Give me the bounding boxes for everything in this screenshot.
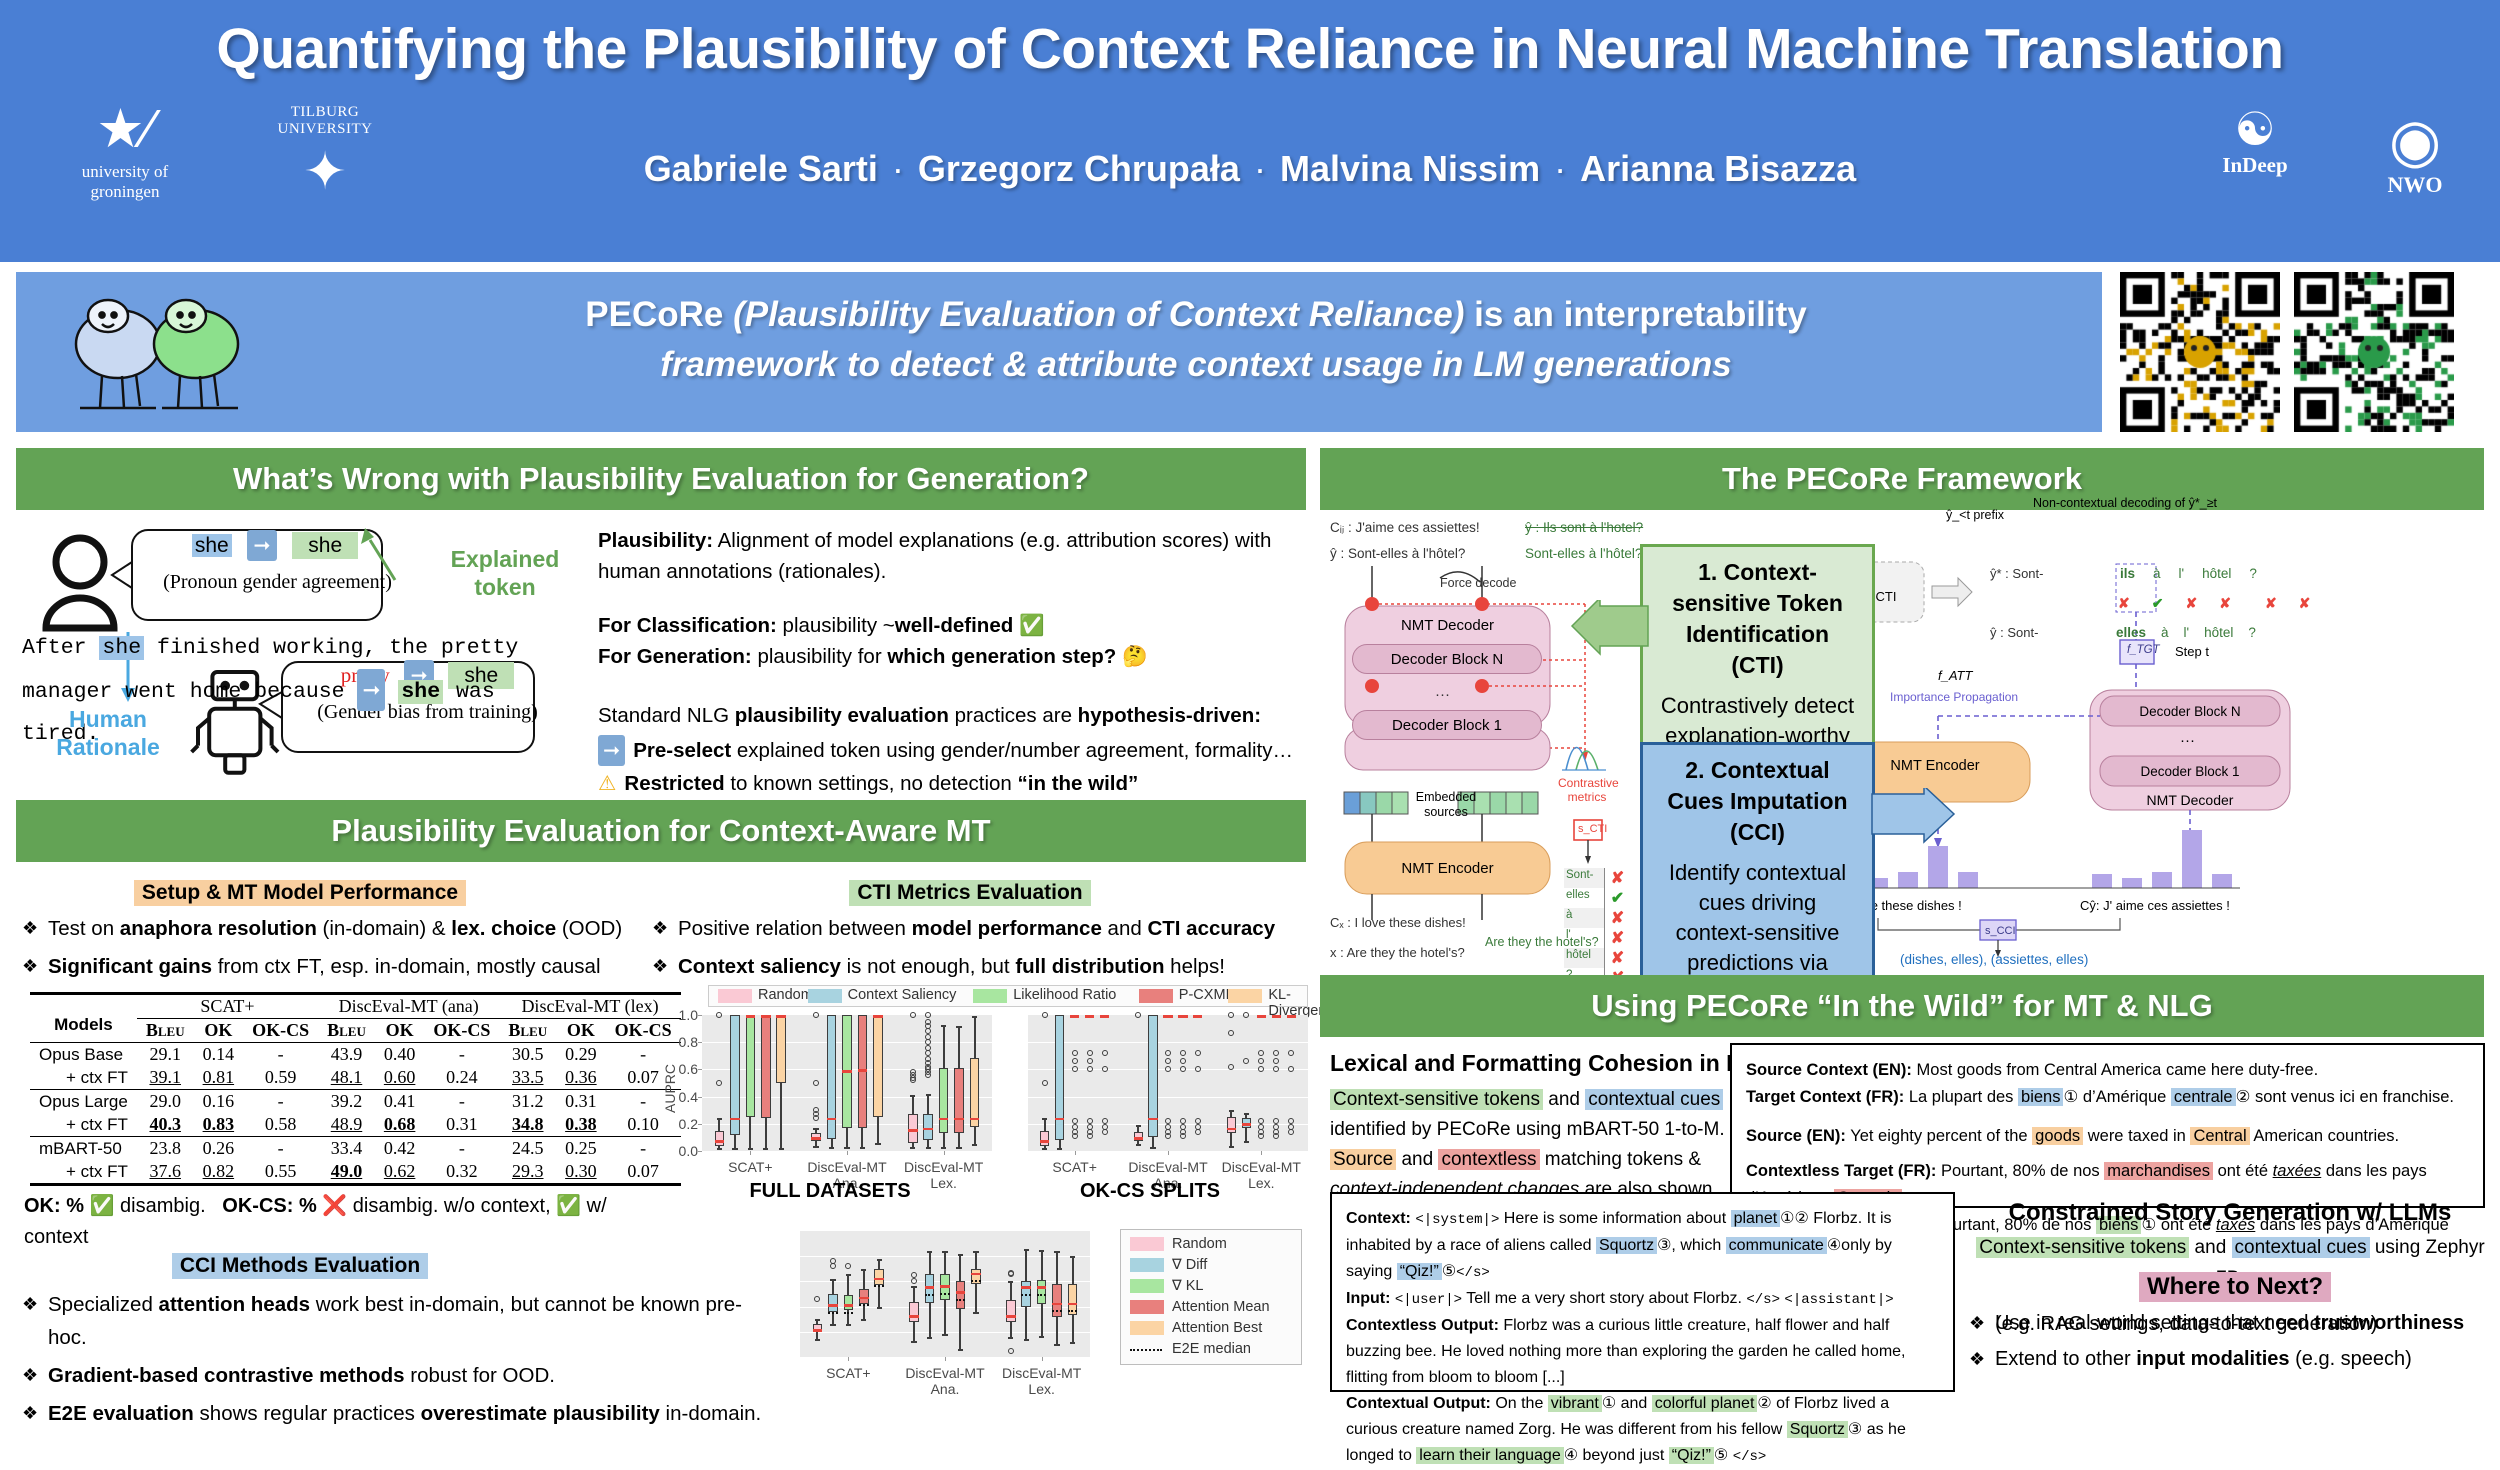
- cross-mark-icon: ✘: [2219, 595, 2231, 612]
- median-line: [715, 1140, 725, 1143]
- box: [939, 1068, 949, 1133]
- table-row: + ctx FT 37.60.820.55 49.00.620.32 29.30…: [30, 1160, 681, 1185]
- x-line: x : Are they the hotel's?: [1330, 945, 1465, 960]
- spacer: [1746, 1111, 2469, 1123]
- median-line: [1163, 1015, 1172, 1018]
- section-header-plausibility-mt: Plausibility Evaluation for Context-Awar…: [16, 800, 1306, 862]
- cross-mark-icon: ✘: [1604, 908, 1630, 928]
- s-cti-label: s_CTI: [1578, 823, 1607, 835]
- cci-subheader: CCI Methods Evaluation: [172, 1253, 428, 1279]
- section-header-in-the-wild: Using PECoRe “In the Wild” for MT & NLG: [1320, 975, 2484, 1037]
- nwo-mark-icon: ◉: [2350, 110, 2480, 172]
- plausibility-definition: Plausibility: Alignment of model explana…: [598, 525, 1288, 587]
- box: [746, 1015, 756, 1117]
- median-line: [1100, 1015, 1109, 1018]
- setup-subheader: Setup & MT Model Performance: [134, 880, 466, 906]
- explained-token-label: Explained token: [415, 545, 595, 601]
- median-line: [874, 1278, 884, 1281]
- y-tick-label: 0.8: [668, 1034, 698, 1050]
- noncontextual-label: Non-contextual decoding of ŷ*_≥t: [2030, 496, 2220, 511]
- whisker-cap: [973, 1312, 978, 1314]
- crest-icon: ★⁄: [55, 100, 195, 158]
- section-header-framework: The PECoRe Framework: [1320, 448, 2484, 510]
- step1-arrow-icon: [1570, 600, 1650, 660]
- x-tick: [1261, 1151, 1262, 1155]
- y-tick: [698, 1097, 702, 1098]
- source-line: Source (EN): Yet eighty percent of the g…: [1746, 1123, 2469, 1150]
- median-line: [1134, 1137, 1143, 1140]
- y-tick: [698, 1042, 702, 1043]
- median-line: [828, 1304, 838, 1307]
- arrow-right-icon: ➞: [357, 669, 385, 711]
- banner-text: PECoRe (Plausibility Evaluation of Conte…: [316, 290, 2076, 390]
- banner-line1-tail: is an interpretability: [1474, 295, 1807, 334]
- check-mark-icon: ✔: [1604, 888, 1630, 908]
- generation-line: For Generation: plausibility for which g…: [598, 641, 1288, 672]
- whisker-cap: [877, 1259, 882, 1261]
- box: [844, 1295, 854, 1310]
- story-contextual-output: Contextual Output: On the vibrant① and c…: [1346, 1391, 1939, 1470]
- outlier-point: [1087, 1058, 1093, 1064]
- box: [827, 1015, 837, 1139]
- legend-swatch: [1130, 1300, 1164, 1314]
- median-line: [1040, 1140, 1049, 1143]
- token-she-human: she: [99, 636, 144, 660]
- results-table: Models SCAT+ DiscEval-MT (ana) DiscEval-…: [30, 992, 681, 1186]
- cci-subheader-wrap: CCI Methods Evaluation: [130, 1253, 470, 1279]
- whisker-cap: [732, 1148, 737, 1150]
- y-tick-label: 0.2: [668, 1116, 698, 1132]
- legend-swatch: [1130, 1237, 1164, 1251]
- step-t-label: Step t: [2175, 644, 2209, 659]
- outlier-point: [1008, 1348, 1014, 1354]
- median-line: [776, 1015, 786, 1018]
- chart-caption-okcs-splits: OK-CS SPLITS: [1020, 1180, 1280, 1203]
- whisker-cap: [1136, 1144, 1141, 1146]
- decoder-block-1-right: Decoder Block 1: [2100, 756, 2280, 786]
- group-disceval-ana: DiscEval-MT (ana): [318, 994, 499, 1019]
- median-line: [842, 1070, 852, 1073]
- e2e-median-marker: [925, 1294, 935, 1296]
- x-tick-label: SCAT+: [1028, 1159, 1121, 1175]
- author-3: Malvina Nissim: [1280, 148, 1540, 189]
- example-part-1: After: [22, 636, 99, 660]
- whisker-cap: [942, 1334, 947, 1336]
- outlier-point: [1087, 1050, 1093, 1056]
- thinking-face-icon: 🤔: [1122, 645, 1148, 668]
- embedded-sources-label: Embedded sources: [1414, 790, 1478, 820]
- whisker-cap: [1136, 1125, 1141, 1127]
- nmt-encoder-label: NMT Encoder: [1345, 850, 1550, 886]
- qr-code-group: [2120, 272, 2484, 432]
- qr-code-paper[interactable]: [2120, 272, 2280, 432]
- whisker-cap: [1024, 1249, 1029, 1251]
- cross-mark-icon: ✘: [1604, 928, 1630, 948]
- table-row: Opus Large 29.00.16- 39.20.41- 31.20.31-: [30, 1090, 681, 1114]
- median-line: [1287, 1015, 1296, 1018]
- source-context-line: Source Context (EN): Most goods from Cen…: [1746, 1057, 2469, 1084]
- author-2: Grzegorz Chrupała: [918, 148, 1240, 189]
- median-line: [859, 1297, 869, 1300]
- marks-row: ✘ ✔ ✘ ✘ ✘ ✘: [2118, 595, 2310, 612]
- y-tick-label: 0.0: [668, 1143, 698, 1159]
- list-item: Gradient-based contrastive methods robus…: [18, 1359, 778, 1392]
- bottom-cy-line: Cŷ: J' aime ces assiettes !: [2080, 898, 2230, 913]
- standard-nlg-line: Standard NLG plausibility evaluation pra…: [598, 700, 1298, 731]
- step-2-title: 2. Contextual Cues Imputation (CCI): [1657, 755, 1858, 848]
- e2e-median-marker: [1052, 1310, 1062, 1312]
- median-line: [1085, 1015, 1094, 1018]
- list-item-continuation: (e.g. RAG settings, data-to-text generat…: [1965, 1309, 2495, 1339]
- star-token-row: ilsàl'hôtel?: [2120, 566, 2257, 581]
- subcol-okcs: OK-CS: [424, 1019, 499, 1043]
- cti-subheader-wrap: CTI Metrics Evaluation: [790, 880, 1150, 906]
- median-line: [730, 1118, 740, 1121]
- check-mark-icon: ✔: [2152, 595, 2164, 612]
- whisker-cap: [1244, 1141, 1249, 1143]
- e2e-median-marker: [1021, 1294, 1031, 1296]
- cross-mark-icon: ✘: [2185, 595, 2197, 612]
- whisker-cap: [748, 1148, 753, 1150]
- cross-mark-icon: ✘: [1604, 948, 1630, 968]
- outlier-point: [1102, 1050, 1108, 1056]
- whisker-cap: [973, 1251, 978, 1253]
- outlier-point: [1042, 1012, 1048, 1018]
- mt-cohesion-header: Lexical and Formatting Cohesion in MT: [1330, 1048, 1770, 1079]
- legend-label: Likelihood Ratio: [1013, 987, 1116, 1003]
- outlier-point: [910, 1012, 916, 1018]
- tilburg-emblem-icon: ✦: [245, 144, 405, 200]
- legend-swatch: [1130, 1258, 1164, 1272]
- median-line: [909, 1315, 919, 1318]
- subcol-bleu: Bleu: [137, 1019, 194, 1043]
- list-item: Specialized attention heads work best in…: [18, 1288, 778, 1354]
- token-she-model: she: [398, 680, 443, 704]
- y-hat-label: ŷ : Sont-: [1990, 625, 2038, 640]
- decoder-block-n: Decoder Block N: [1352, 644, 1542, 674]
- subcol-ok: OK: [375, 1019, 425, 1043]
- box: [909, 1302, 919, 1322]
- cross-mark-icon: ✘: [1604, 868, 1630, 888]
- group-scat: SCAT+: [137, 994, 318, 1019]
- median-line: [956, 1291, 966, 1294]
- subcol-ok: OK: [194, 1019, 244, 1043]
- whisker-cap: [1054, 1251, 1059, 1253]
- box: [1040, 1131, 1049, 1146]
- whisker-cap: [829, 1147, 834, 1149]
- mt-cohesion-desc: Context-sensitive tokens and contextual …: [1330, 1085, 1760, 1205]
- boxplot-panel: SCAT+DiscEval-MT Ana.DiscEval-MT Lex.: [800, 1231, 1090, 1357]
- warning-icon: ⚠: [598, 772, 616, 795]
- median-line: [954, 1118, 964, 1121]
- whisker-cap: [861, 1319, 866, 1321]
- whisker-cap: [1070, 1256, 1075, 1258]
- check-mark-icon: ✅: [90, 1195, 115, 1217]
- legend-label: Context Saliency: [848, 987, 957, 1003]
- table-row: mBART-50 23.80.26- 33.40.42- 24.50.25-: [30, 1137, 681, 1161]
- outlier-point: [1180, 1050, 1186, 1056]
- author-1: Gabriele Sarti: [644, 148, 878, 189]
- group-disceval-lex: DiscEval-MT (lex): [499, 994, 680, 1019]
- legend-label: Attention Mean: [1172, 1299, 1270, 1315]
- median-line: [873, 1015, 883, 1018]
- e2e-median-marker: [859, 1304, 869, 1306]
- logo-label: NWO: [2350, 172, 2480, 198]
- framework-diagram: Cᵢⱼ : J'aime ces assiettes! ŷ : Ils sont…: [1330, 520, 2490, 960]
- whisker-cap: [1042, 1118, 1047, 1120]
- f-tgt-label: f_TGT: [2127, 644, 2160, 656]
- whisker-cap: [958, 1254, 963, 1256]
- subcol-ok: OK: [556, 1019, 606, 1043]
- whisker-cap: [1024, 1339, 1029, 1341]
- whisker-cap: [1039, 1250, 1044, 1252]
- e2e-median-marker: [1037, 1294, 1047, 1296]
- mt-example-box: Source Context (EN): Most goods from Cen…: [1730, 1043, 2485, 1208]
- university-of-groningen-logo: ★⁄ university of groningen: [55, 100, 195, 202]
- box: [1006, 1300, 1016, 1321]
- x-tick: [750, 1151, 751, 1155]
- box: [828, 1294, 838, 1312]
- median-line: [1272, 1015, 1281, 1018]
- human-bubble-content: she ➞ she: [155, 530, 395, 561]
- cti-token-table: Sont-✘ elles✔ à✘ l'✘ hôtel✘ ?✘: [1564, 868, 1630, 988]
- where-next-header-wrap: Where to Next?: [2090, 1272, 2380, 1302]
- cti-subheader: CTI Metrics Evaluation: [849, 880, 1090, 906]
- table-footnote: OK: % ✅ disambig. OK-CS: % ❌ disambig. w…: [24, 1191, 664, 1253]
- median-line: [940, 1285, 950, 1288]
- tilburg-university-logo: TILBURG UNIVERSITY ✦: [245, 104, 405, 200]
- y-tick: [698, 1015, 702, 1016]
- whisker-cap: [927, 1337, 932, 1339]
- median-line: [1055, 1118, 1064, 1121]
- author-4: Arianna Bisazza: [1580, 148, 1856, 189]
- example-part-3: manager went home because: [22, 680, 345, 704]
- cci-bullet-list: Specialized attention heads work best in…: [18, 1288, 778, 1435]
- outlier-point: [1180, 1133, 1186, 1139]
- whisker-cap: [1070, 1342, 1075, 1344]
- legend-swatch: [808, 989, 842, 1003]
- outlier-point: [1102, 1066, 1108, 1072]
- person-icon: [46, 538, 114, 628]
- setup-subheader-wrap: Setup & MT Model Performance: [120, 880, 480, 906]
- whisker-cap: [1039, 1336, 1044, 1338]
- box: [761, 1015, 771, 1118]
- median-line: [1227, 1128, 1236, 1131]
- whisker-cap: [763, 1148, 768, 1150]
- y-tick: [698, 1124, 702, 1125]
- whisker-cap: [1042, 1148, 1047, 1150]
- median-line: [1021, 1286, 1031, 1289]
- subtitle-banner: PECoRe (Plausibility Evaluation of Conte…: [16, 272, 2102, 432]
- whisker-cap: [844, 1147, 849, 1149]
- decoder-dots: ···: [1435, 686, 1450, 703]
- nmt-decoder-right: NMT Decoder: [2100, 792, 2280, 808]
- gridline: [1028, 1042, 1308, 1043]
- author-separator: ·: [878, 148, 918, 189]
- page-title: Quantifying the Plausibility of Context …: [0, 16, 2500, 82]
- whisker-cap: [860, 1147, 865, 1149]
- decoder-block-n-right: Decoder Block N: [2100, 696, 2280, 726]
- story-example-box: Context: <|system|> Here is some informa…: [1330, 1192, 1955, 1392]
- median-line: [1242, 1123, 1251, 1126]
- y-tick: [698, 1151, 702, 1152]
- outlier-point: [1165, 1133, 1171, 1139]
- whisker-cap: [830, 1324, 835, 1326]
- pairs-label: (dishes, elles), (assiettes, elles): [1900, 952, 2088, 967]
- setup-bullet-list: Test on anaphora resolution (in-domain) …: [18, 912, 638, 988]
- cross-mark-icon: ❌: [322, 1195, 347, 1217]
- chart-caption-full-datasets: FULL DATASETS: [700, 1180, 960, 1203]
- human-rationale-label: Human Rationale: [28, 705, 188, 761]
- cross-mark-icon: ✘: [2299, 595, 2311, 612]
- box: [1037, 1280, 1047, 1304]
- e2e-median-marker: [1068, 1310, 1078, 1312]
- whisker-cap: [1244, 1113, 1249, 1115]
- outlier-point: [1008, 1271, 1014, 1277]
- story-input-line: Input: <|user|> Tell me a very short sto…: [1346, 1286, 1939, 1313]
- pecore-expansion: (Plausibility Evaluation of Context Reli…: [733, 295, 1464, 334]
- subcol-bleu: Bleu: [318, 1019, 375, 1043]
- x-tick: [1042, 1357, 1043, 1361]
- median-line: [1006, 1315, 1016, 1318]
- qr-code-demo[interactable]: [2294, 272, 2454, 432]
- list-item: Test on anaphora resolution (in-domain) …: [18, 912, 638, 945]
- median-line: [811, 1137, 821, 1140]
- story-context-line: Context: <|system|> Here is some informa…: [1346, 1206, 1939, 1286]
- whisker-cap: [875, 1143, 880, 1145]
- step2-arrow-icon: [1870, 788, 1956, 848]
- legend-label: ∇ KL: [1172, 1278, 1203, 1294]
- e2e-median-marker: [940, 1293, 950, 1295]
- table-row: à✘: [1564, 908, 1630, 928]
- logo-label: UNIVERSITY: [245, 121, 405, 138]
- box: [776, 1015, 786, 1083]
- median-line: [761, 1015, 771, 1018]
- x-tick: [848, 1357, 849, 1361]
- author-separator: ·: [1240, 148, 1280, 189]
- whisker-cap: [910, 1147, 915, 1149]
- story-contextless-output: Contextless Output: Florbz was a curious…: [1346, 1313, 1939, 1391]
- median-line: [908, 1129, 918, 1132]
- author-separator: ·: [1540, 148, 1580, 189]
- hat-token-row: ellesàl'hôtel?: [2116, 625, 2256, 640]
- median-line: [746, 1015, 756, 1018]
- check-mark-icon: ✅: [556, 1195, 581, 1217]
- banner-line2: framework to detect & attribute context …: [660, 345, 1732, 384]
- decoder-dots: ···: [2180, 732, 2195, 749]
- whisker-cap: [911, 1341, 916, 1343]
- e2e-median-marker: [956, 1299, 966, 1301]
- table-row: elles✔: [1564, 888, 1630, 908]
- median-line: [844, 1304, 854, 1307]
- outlier-point: [1072, 1133, 1078, 1139]
- f-att-label: f_ATT: [1938, 668, 1972, 683]
- boxplot-panel: SCAT+DiscEval-MT Ana.DiscEval-MT Lex.0.0…: [702, 1015, 992, 1151]
- outlier-point: [1042, 1080, 1048, 1086]
- step-1-title: 1. Context-sensitive Token Identificatio…: [1657, 557, 1858, 681]
- table-row: + ctx FT 39.10.810.59 48.10.600.24 33.50…: [30, 1066, 681, 1090]
- outlier-point: [1195, 1050, 1201, 1056]
- legend-swatch: [1130, 1349, 1162, 1351]
- y-axis-label: AUPRC: [662, 1064, 678, 1113]
- pecore-acronym: PECoRe: [585, 295, 723, 334]
- whisker-cap: [815, 1319, 820, 1321]
- target-context-line: Target Context (FR): La plupart des bien…: [1746, 1084, 2469, 1111]
- whisker-cap: [972, 1144, 977, 1146]
- logo-label: InDeep: [2190, 153, 2320, 178]
- cross-mark-icon: ✘: [2118, 595, 2130, 612]
- whisker-cap: [717, 1148, 722, 1150]
- check-mark-icon: ✅: [1019, 614, 1045, 637]
- network-icon: ☯: [2190, 105, 2320, 153]
- outlier-point: [1072, 1058, 1078, 1064]
- example-part-2: finished working, the pretty: [144, 636, 518, 660]
- median-line: [971, 1273, 981, 1276]
- whisker-cap: [1057, 1148, 1062, 1150]
- cci-boxplot-chart: SCAT+DiscEval-MT Ana.DiscEval-MT Lex.Ran…: [790, 1225, 1310, 1395]
- median-line: [1070, 1015, 1079, 1018]
- legend-label: E2E median: [1172, 1341, 1251, 1357]
- list-item: Context saliency is not enough, but full…: [648, 950, 1308, 983]
- median-line: [925, 1286, 935, 1289]
- whisker-cap: [926, 1147, 931, 1149]
- whisker-cap: [779, 1148, 784, 1150]
- outlier-point: [1195, 1129, 1201, 1135]
- cross-mark-icon: ✘: [2265, 595, 2277, 612]
- box: [970, 1058, 980, 1127]
- y-tick-label: 1.0: [668, 1007, 698, 1023]
- whisker-cap: [846, 1324, 851, 1326]
- x-tick: [945, 1357, 946, 1361]
- median-line: [1037, 1286, 1047, 1289]
- median-line: [939, 1118, 949, 1121]
- x-tick-label: DiscEval-MT Lex.: [993, 1365, 1090, 1397]
- boxplot-panel: SCAT+DiscEval-MT Ana.DiscEval-MT Lex.: [1028, 1015, 1308, 1151]
- restricted-bullet: ⚠Restricted to known settings, no detect…: [598, 768, 1298, 799]
- cti-boxplot-chart: RandomContext SaliencyLikelihood RatioP-…: [660, 985, 1310, 1185]
- median-line: [858, 1069, 868, 1072]
- subcol-bleu: Bleu: [499, 1019, 556, 1043]
- indeep-logo: ☯ InDeep: [2190, 105, 2320, 178]
- legend-swatch: [973, 989, 1007, 1003]
- outlier-point: [910, 1077, 916, 1083]
- human-bubble-caption: (Pronoun gender agreement): [135, 567, 420, 598]
- box: [1055, 1015, 1064, 1140]
- where-next-header: Where to Next?: [2139, 1272, 2331, 1302]
- legend-swatch: [718, 989, 752, 1003]
- nmt-decoder-label: NMT Decoder: [1345, 612, 1550, 638]
- poster-header: Quantifying the Plausibility of Context …: [0, 0, 2500, 262]
- x-tick: [944, 1151, 945, 1155]
- outlier-point: [1087, 1133, 1093, 1139]
- whisker-cap: [941, 1147, 946, 1149]
- x-tick: [1075, 1151, 1076, 1155]
- cti-bullet-list: Positive relation between model performa…: [648, 912, 1308, 988]
- human-bubble-from: she: [192, 534, 232, 557]
- s-cci-label: s_CCI: [1985, 925, 2016, 937]
- logo-label: TILBURG: [245, 104, 405, 121]
- table-row: hôtel✘: [1564, 948, 1630, 968]
- box: [1227, 1117, 1236, 1133]
- whisker-cap: [927, 1251, 932, 1253]
- whisker-cap: [911, 1286, 916, 1288]
- nwo-logo: ◉ NWO: [2350, 110, 2480, 198]
- table-header-row: Models SCAT+ DiscEval-MT (ana) DiscEval-…: [30, 994, 681, 1019]
- legend-label: ∇ Diff: [1172, 1257, 1207, 1273]
- median-line: [813, 1329, 823, 1332]
- legend-label: Attention Best: [1172, 1320, 1262, 1336]
- sheep-illustration-icon: [46, 282, 286, 422]
